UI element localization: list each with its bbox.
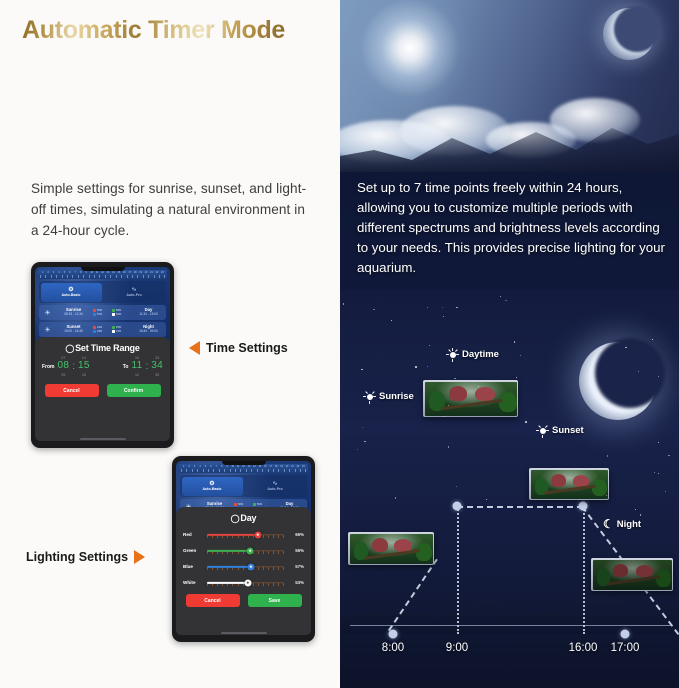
- moon-icon: [603, 8, 655, 60]
- star-icon: [607, 455, 609, 457]
- star-icon: [486, 499, 487, 500]
- home-indicator: [221, 632, 267, 634]
- triangle-left-icon: [189, 341, 200, 355]
- hour-ruler[interactable]: 1234567891011121314151617181920212223: [38, 270, 167, 279]
- tab-auto-basic-label: Auto-Basic: [62, 293, 81, 297]
- plant-shape: [551, 474, 566, 487]
- to-minute-next: 35: [155, 373, 159, 377]
- timeline-axis: [350, 625, 673, 627]
- star-icon: [456, 307, 457, 308]
- slider-row-white: White ◉ 53%: [183, 578, 304, 587]
- blue-slider[interactable]: ◉: [207, 562, 284, 571]
- node-17[interactable]: [621, 630, 630, 639]
- slider-row-red: Red ◉ 66%: [183, 530, 304, 539]
- hour-ruler[interactable]: 1234567891011121314151617181920212223: [179, 464, 308, 473]
- plant-shape: [475, 387, 495, 401]
- sunrise-icon: [363, 390, 376, 403]
- chip-red: 50%: [234, 503, 251, 506]
- chip-green: 25%: [112, 326, 129, 329]
- schedule-period-day: Day 11:34 - 15:00: [131, 305, 166, 320]
- mode-tab-group: ⚙ Auto-Basic ∿ Auto-Pro: [39, 281, 166, 303]
- lighting-settings-modal: ◯ Day Red ◉ 66% Green: [176, 507, 311, 635]
- ruler-hour: 23: [160, 271, 165, 275]
- chip-red: 50%: [93, 309, 110, 312]
- slider-fill: [207, 581, 248, 583]
- annotation-night: ☾ Night: [603, 518, 641, 530]
- channel-chips: 24% 25% 24% 21%: [91, 322, 131, 337]
- schedule-time: 16:45 - 09:00: [139, 330, 158, 334]
- star-icon: [361, 369, 363, 371]
- page-root: Automatic Timer Mode Simple settings for…: [0, 0, 679, 688]
- slider-label: White: [183, 580, 203, 585]
- tab-auto-pro[interactable]: ∿ Auto-Pro: [245, 477, 306, 496]
- left-description: Simple settings for sunrise, sunset, and…: [31, 178, 311, 241]
- moon-icon: ☾: [603, 518, 614, 530]
- from-hour-next: 09: [61, 373, 65, 377]
- to-group: To 10 11 12 : 33 34 35: [123, 356, 163, 377]
- slider-knob[interactable]: ◉: [247, 563, 254, 570]
- star-icon: [668, 455, 669, 456]
- gear-icon: ⚙: [68, 287, 73, 293]
- chip-red: 24%: [93, 326, 110, 329]
- star-icon: [429, 345, 430, 346]
- driftwood-shape: [364, 549, 420, 560]
- plant-shape: [636, 565, 653, 577]
- star-icon: [443, 316, 444, 317]
- star-icon: [357, 449, 358, 450]
- ruler-ticks: [40, 275, 165, 279]
- star-icon: [391, 320, 392, 321]
- gear-icon: ⚙: [209, 481, 214, 487]
- phone-notch: [222, 461, 266, 465]
- slider-value: 57%: [288, 564, 304, 569]
- star-icon: [600, 350, 601, 351]
- star-icon: [514, 341, 516, 343]
- slider-knob[interactable]: ◉: [247, 547, 254, 554]
- phone-mockup-time-settings: 1234567891011121314151617181920212223 ⚙ …: [31, 262, 174, 448]
- slider-label: Red: [183, 532, 203, 537]
- star-icon: [427, 307, 428, 308]
- schedule-list: ☀ Sunrise 08:15 - 11:34 50% 56% 57% 53%: [39, 305, 166, 337]
- star-icon: [520, 355, 521, 356]
- right-panel: Set up to 7 time points freely within 24…: [340, 0, 679, 688]
- sun-icon: [446, 348, 459, 361]
- axis-tick-17: 17:00: [611, 642, 640, 654]
- modal-title-label: Set Time Range: [75, 343, 140, 353]
- star-icon: [395, 497, 397, 499]
- schedule-time: 08:15 - 11:34: [64, 313, 83, 317]
- callout-time-settings-label: Time Settings: [206, 341, 288, 355]
- tank-image: [593, 560, 672, 590]
- gridline-9am: [457, 506, 459, 634]
- tank-sunrise: [348, 532, 434, 565]
- star-icon: [635, 509, 636, 510]
- star-icon: [525, 421, 527, 423]
- slider-row-green: Green ◉ 56%: [183, 546, 304, 555]
- modal-title-label: Day: [240, 513, 256, 523]
- star-icon: [373, 309, 374, 310]
- annotation-sunset-label: Sunset: [552, 425, 584, 436]
- star-icon: [516, 377, 517, 378]
- white-slider[interactable]: ◉: [207, 578, 284, 587]
- star-icon: [505, 300, 507, 302]
- chip-blue: 24%: [93, 330, 110, 333]
- home-indicator: [80, 438, 126, 440]
- red-slider[interactable]: ◉: [207, 530, 284, 539]
- driftwood-shape: [544, 484, 596, 494]
- modal-title: ◯ Day: [183, 513, 304, 523]
- from-label: From: [42, 364, 55, 370]
- annotation-sunrise: Sunrise: [363, 390, 414, 403]
- star-icon: [442, 307, 444, 309]
- slider-value: 66%: [288, 532, 304, 537]
- tank-image: [350, 534, 433, 564]
- chip-blue: 57%: [93, 313, 110, 316]
- right-description: Set up to 7 time points freely within 24…: [357, 178, 665, 278]
- page-title: Automatic Timer Mode: [22, 16, 285, 45]
- phone-notch: [81, 267, 125, 271]
- clock-icon: ◯: [231, 514, 240, 523]
- star-icon: [415, 366, 417, 368]
- star-icon: [454, 378, 456, 380]
- slider-knob[interactable]: ◉: [244, 579, 251, 586]
- to-colon: :: [145, 361, 148, 372]
- slider-fill: [207, 565, 251, 567]
- triangle-right-icon: [134, 550, 145, 564]
- cancel-button[interactable]: Cancel: [186, 594, 240, 607]
- annotation-sunrise-label: Sunrise: [379, 391, 414, 402]
- node-9am[interactable]: [453, 502, 462, 511]
- tank-night: [591, 558, 673, 591]
- annotation-daytime-label: Daytime: [462, 349, 499, 360]
- wave-icon: ∿: [272, 481, 277, 487]
- phone-mockup-lighting-settings: 1234567891011121314151617181920212223 ⚙ …: [172, 456, 315, 642]
- star-icon: [652, 339, 653, 340]
- schedule-time: 15:00 - 16:45: [64, 330, 83, 334]
- channel-chips: 50% 56% 57% 53%: [91, 305, 131, 320]
- plant-shape: [613, 564, 628, 577]
- schedule-period-night: Night 16:45 - 09:00: [131, 322, 166, 337]
- timeline-diagram: Sunrise Daytime: [340, 290, 679, 688]
- axis-tick-16: 16:00: [569, 642, 598, 654]
- tab-auto-basic[interactable]: ⚙ Auto-Basic: [182, 477, 243, 496]
- schedule-period-sunrise: Sunrise 08:15 - 11:34: [56, 305, 91, 320]
- tab-auto-pro[interactable]: ∿ Auto-Pro: [104, 283, 165, 302]
- axis-tick-9: 9:00: [446, 642, 468, 654]
- slider-label: Green: [183, 548, 203, 553]
- chip-white: 53%: [112, 313, 129, 316]
- driftwood-shape: [441, 398, 503, 410]
- phone-screen-time: 1234567891011121314151617181920212223 ⚙ …: [35, 267, 170, 441]
- callout-lighting-settings-label: Lighting Settings: [26, 550, 128, 564]
- slider-knob[interactable]: ◉: [254, 531, 261, 538]
- star-icon: [456, 486, 457, 487]
- schedule-row[interactable]: ☀ Sunset 15:00 - 16:45 24% 25% 24% 21%: [39, 322, 166, 337]
- star-icon: [658, 442, 659, 443]
- star-icon: [500, 296, 501, 297]
- ruler-hour: 23: [301, 465, 306, 469]
- chip-green: 56%: [253, 503, 270, 506]
- wave-icon: ∿: [131, 287, 136, 293]
- sunrise-icon: ☀: [39, 305, 56, 320]
- from-hour-value: 08: [58, 360, 70, 373]
- from-minute-value: 15: [78, 360, 90, 373]
- schedule-time: 11:34 - 15:00: [139, 313, 158, 317]
- sunset-icon: ☀: [39, 322, 56, 337]
- star-icon: [625, 347, 626, 348]
- schedule-row[interactable]: ☀ Sunrise 08:15 - 11:34 50% 56% 57% 53%: [39, 305, 166, 320]
- annotation-night-label: Night: [617, 519, 641, 530]
- cancel-button[interactable]: Cancel: [45, 384, 99, 397]
- tank-image: [425, 382, 517, 416]
- modal-buttons: Cancel Save: [183, 594, 304, 607]
- time-picker-row: From 07 08 09 : 14 15 16: [42, 356, 163, 377]
- schedule-period-sunset: Sunset 15:00 - 16:45: [56, 322, 91, 337]
- green-slider[interactable]: ◉: [207, 546, 284, 555]
- star-icon: [364, 441, 365, 442]
- star-icon: [448, 446, 450, 448]
- callout-time-settings: Time Settings: [189, 341, 288, 355]
- slider-row-blue: Blue ◉ 57%: [183, 562, 304, 571]
- gridline-16: [583, 506, 585, 634]
- to-minute-picker[interactable]: 33 34 35: [151, 356, 163, 377]
- tab-auto-pro-label: Auto-Pro: [126, 293, 141, 297]
- to-hour-next: 12: [135, 373, 139, 377]
- slider-label: Blue: [183, 564, 203, 569]
- star-icon: [343, 303, 345, 305]
- slider-value: 56%: [288, 548, 304, 553]
- star-icon: [640, 514, 642, 516]
- tab-auto-pro-label: Auto-Pro: [267, 487, 282, 491]
- star-icon: [658, 473, 659, 474]
- left-panel: Automatic Timer Mode Simple settings for…: [0, 0, 340, 688]
- star-icon: [448, 405, 449, 406]
- plant-shape: [372, 538, 388, 552]
- node-8am[interactable]: [389, 630, 398, 639]
- mode-tab-group: ⚙ Auto-Basic ∿ Auto-Pro: [180, 475, 307, 497]
- phone-screen-lighting: 1234567891011121314151617181920212223 ⚙ …: [176, 461, 311, 635]
- tank-sunset: [529, 468, 609, 500]
- slider-fill: [207, 533, 258, 535]
- annotation-sunset: Sunset: [536, 424, 584, 437]
- chip-white: 21%: [112, 330, 129, 333]
- tank-image: [531, 470, 608, 499]
- moon-icon: [579, 342, 657, 420]
- set-time-range-modal: ◯ Set Time Range From 07 08 09 :: [35, 337, 170, 441]
- modal-buttons: Cancel Confirm: [42, 384, 163, 397]
- modal-title: ◯ Set Time Range: [42, 343, 163, 353]
- from-minute-picker[interactable]: 14 15 16: [78, 356, 90, 377]
- plant-shape: [449, 386, 467, 401]
- node-16[interactable]: [579, 502, 588, 511]
- star-icon: [362, 427, 363, 428]
- from-minute-next: 16: [82, 373, 86, 377]
- to-hour-value: 11: [132, 360, 143, 373]
- save-button[interactable]: Save: [248, 594, 302, 607]
- star-icon: [665, 491, 666, 492]
- callout-lighting-settings: Lighting Settings: [26, 550, 145, 564]
- slider-value: 53%: [288, 580, 304, 585]
- tank-daytime: [423, 380, 518, 417]
- chip-green: 56%: [112, 309, 129, 312]
- sunset-icon: [536, 424, 549, 437]
- tab-auto-basic-label: Auto-Basic: [203, 487, 222, 491]
- from-hour-picker[interactable]: 07 08 09: [58, 356, 70, 377]
- driftwood-shape: [606, 575, 660, 585]
- connector-plateau: [457, 506, 583, 508]
- ruler-ticks: [181, 469, 306, 473]
- to-minute-value: 34: [151, 360, 163, 373]
- to-hour-picker[interactable]: 10 11 12: [132, 356, 143, 377]
- tab-auto-basic[interactable]: ⚙ Auto-Basic: [41, 283, 102, 302]
- from-colon: :: [72, 361, 75, 372]
- slider-fill: [207, 549, 250, 551]
- clock-icon: ◯: [65, 344, 74, 353]
- star-icon: [654, 472, 655, 473]
- to-label: To: [123, 364, 129, 370]
- from-group: From 07 08 09 : 14 15 16: [42, 356, 90, 377]
- sky-photo: [340, 0, 679, 172]
- star-icon: [427, 366, 428, 367]
- confirm-button[interactable]: Confirm: [107, 384, 161, 397]
- annotation-daytime: Daytime: [446, 348, 499, 361]
- axis-tick-8: 8:00: [382, 642, 404, 654]
